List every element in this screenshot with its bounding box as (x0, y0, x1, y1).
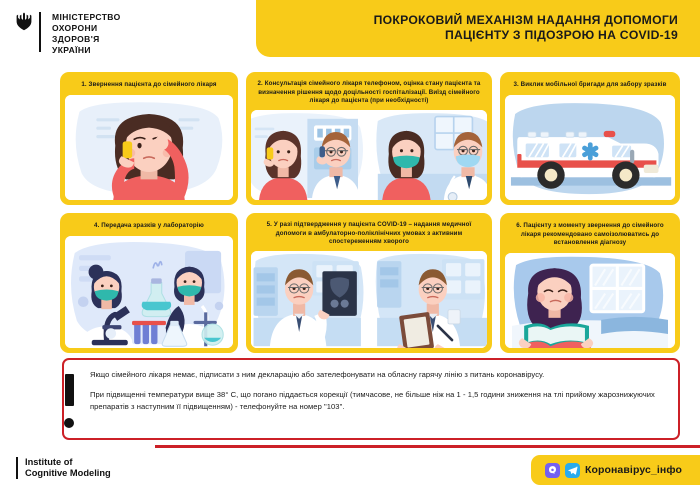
ministry-line-2: ОХОРОНИ (52, 23, 121, 33)
step-card-2-title: 2. Консультація сімейного лікаря телефон… (251, 77, 487, 110)
step-card-6-title: 6. Пацієнту з моменту звернення до сімей… (505, 218, 675, 253)
infographic-page: МІНІСТЕРСТВО ОХОРОНИ ЗДОРОВ'Я УКРАЇНИ ПО… (0, 0, 700, 491)
step-card-4: 4. Передача зразків у лабораторію (60, 213, 238, 353)
step-card-1-illustration (65, 95, 233, 200)
telegram-icon[interactable] (565, 463, 580, 478)
exclamation-mark-icon (58, 374, 80, 428)
warning-paragraph-2: При підвищенні температури вище 38° С, щ… (90, 389, 664, 412)
viber-icon[interactable] (545, 463, 560, 478)
institute-divider (16, 457, 18, 479)
ministry-line-1: МІНІСТЕРСТВО (52, 12, 121, 22)
step-card-1-title: 1. Звернення пацієнта до сімейного лікар… (65, 77, 233, 95)
header: МІНІСТЕРСТВО ОХОРОНИ ЗДОРОВ'Я УКРАЇНИ ПО… (0, 0, 700, 60)
step-card-4-illustration (65, 236, 233, 348)
warning-text: Якщо сімейного лікаря немає, підписати з… (64, 360, 678, 420)
step-card-2-illustration (251, 110, 487, 200)
badge-label: Коронавірус_інфо (585, 464, 682, 476)
coronavirus-info-badge[interactable]: Коронавірус_інфо (531, 455, 700, 485)
step-card-6: 6. Пацієнту з моменту звернення до сімей… (500, 213, 680, 353)
woman-on-phone-icon (65, 95, 233, 200)
institute-line-2: Cognitive Modeling (25, 468, 111, 479)
institute-name: Institute of Cognitive Modeling (25, 457, 111, 479)
exclamation-bar (65, 374, 74, 406)
step-card-5: 5. У разі підтвердження у пацієнта COVID… (246, 213, 492, 353)
step-card-5-illustration (251, 251, 487, 348)
steps-row-2: 4. Передача зразків у лабораторію (60, 213, 680, 353)
phone-consultation-icon (251, 110, 487, 200)
doctors-diagnosis-icon (251, 251, 487, 348)
title-line-2: ПАЦІЄНТУ З ПІДОЗРОЮ НА COVID-19 (445, 28, 678, 43)
page-title: ПОКРОКОВИЙ МЕХАНІЗМ НАДАННЯ ДОПОМОГИ ПАЦ… (256, 0, 700, 57)
footer: Institute of Cognitive Modeling Коронаві… (0, 445, 700, 491)
step-card-3: 3. Виклик мобільної бригади для забору з… (500, 72, 680, 205)
step-card-1: 1. Звернення пацієнта до сімейного лікар… (60, 72, 238, 205)
warning-paragraph-1: Якщо сімейного лікаря немає, підписати з… (90, 369, 664, 380)
steps-grid: 1. Звернення пацієнта до сімейного лікар… (60, 72, 680, 361)
warning-box: Якщо сімейного лікаря немає, підписати з… (62, 358, 680, 440)
institute-logo: Institute of Cognitive Modeling (16, 457, 111, 479)
exclamation-dot (64, 418, 74, 428)
footer-divider-rule (155, 445, 700, 448)
ministry-line-3: ЗДОРОВ'Я (52, 34, 121, 44)
institute-line-1: Institute of (25, 457, 111, 468)
step-card-6-illustration (505, 253, 675, 348)
step-card-3-illustration (505, 95, 675, 200)
title-line-1: ПОКРОКОВИЙ МЕХАНІЗМ НАДАННЯ ДОПОМОГИ (374, 13, 678, 28)
step-card-2: 2. Консультація сімейного лікаря телефон… (246, 72, 492, 205)
laboratory-icon (65, 236, 233, 348)
logo-divider (39, 12, 41, 52)
self-isolation-reading-icon (505, 253, 675, 348)
step-card-3-title: 3. Виклик мобільної бригади для забору з… (505, 77, 675, 95)
step-card-5-title: 5. У разі підтвердження у пацієнта COVID… (251, 218, 487, 251)
step-card-4-title: 4. Передача зразків у лабораторію (65, 218, 233, 236)
ambulance-icon (505, 95, 675, 200)
ministry-logo: МІНІСТЕРСТВО ОХОРОНИ ЗДОРОВ'Я УКРАЇНИ (16, 12, 121, 55)
ministry-line-4: УКРАЇНИ (52, 45, 121, 55)
steps-row-1: 1. Звернення пацієнта до сімейного лікар… (60, 72, 680, 205)
ministry-name: МІНІСТЕРСТВО ОХОРОНИ ЗДОРОВ'Я УКРАЇНИ (52, 12, 121, 55)
ukraine-trident-icon (16, 12, 32, 36)
